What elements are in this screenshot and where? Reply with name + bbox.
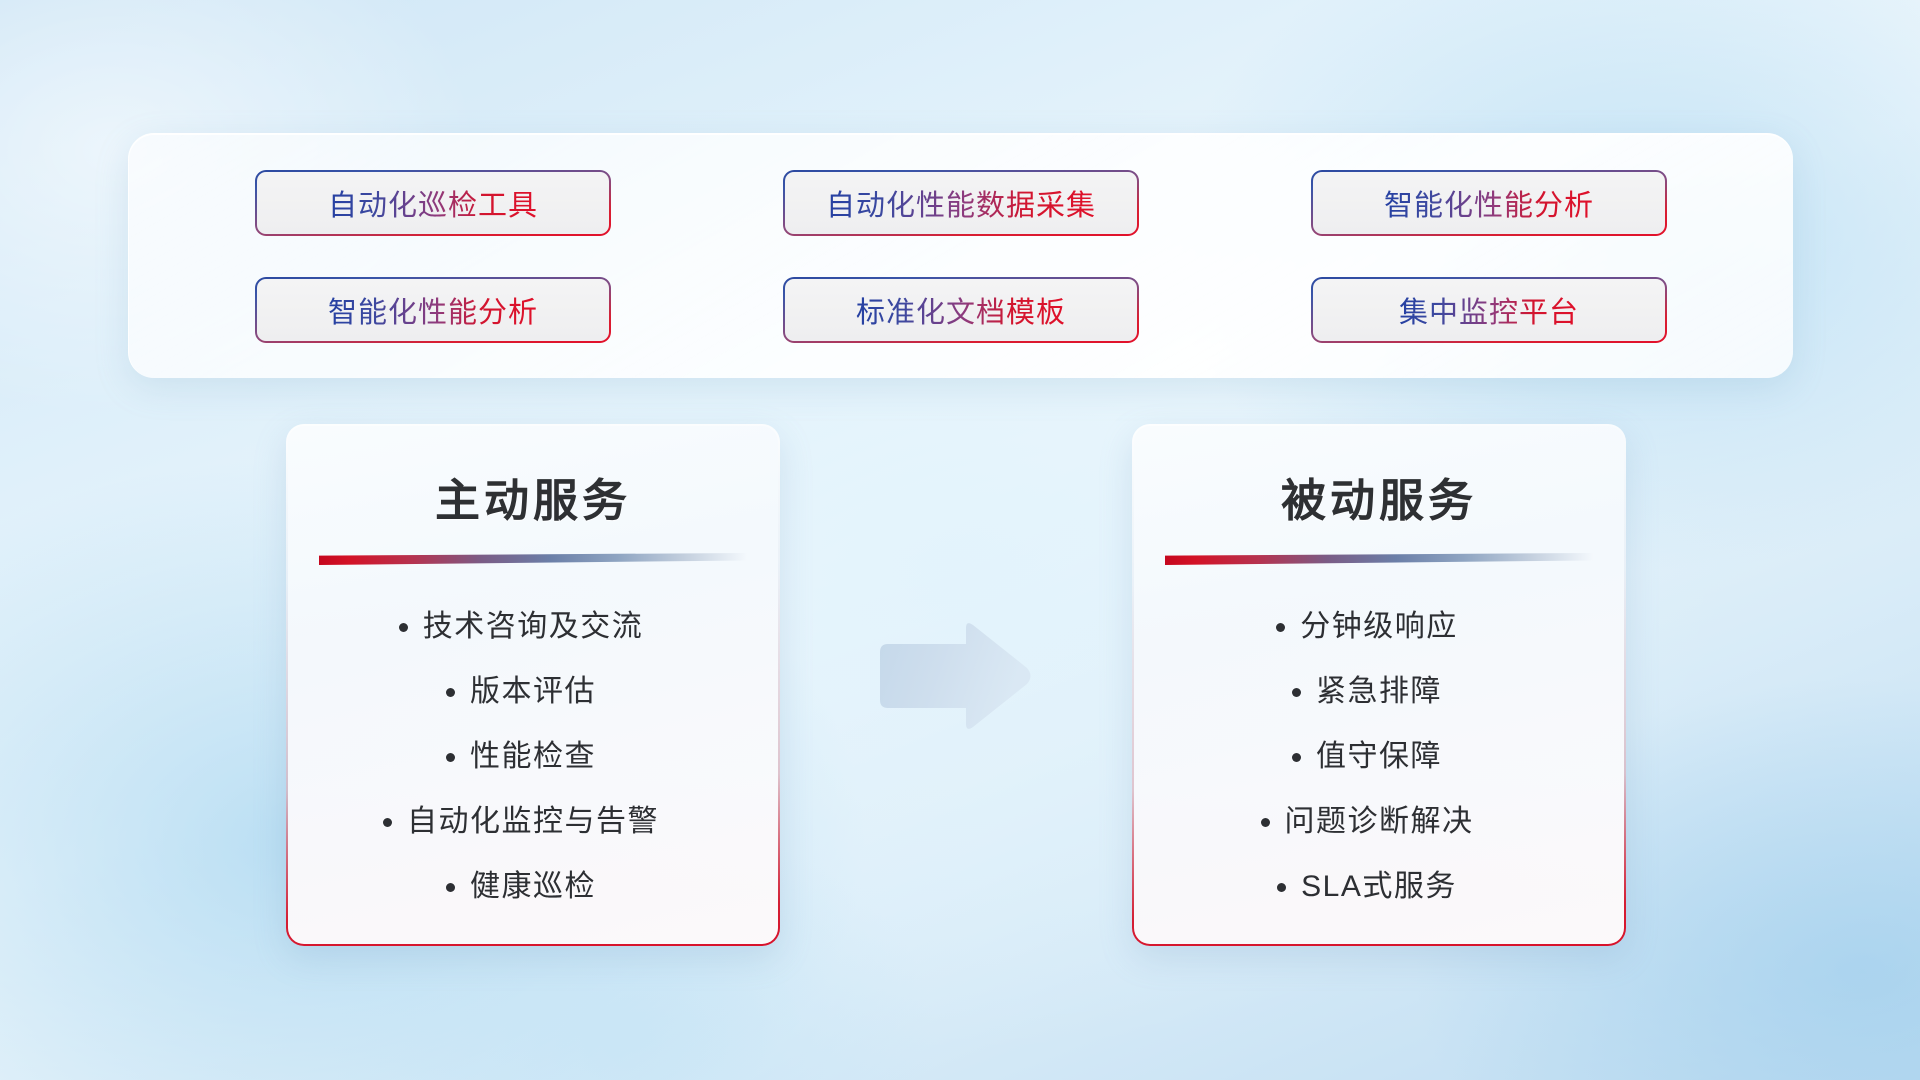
- service-item-list: 技术咨询及交流 版本评估 性能检查 自动化监控与告警 健康巡检: [288, 601, 778, 905]
- service-card-title: 主动服务: [435, 464, 631, 529]
- service-list-item: 问题诊断解决: [1285, 796, 1474, 840]
- service-item-list: 分钟级响应 紧急排障 值守保障 问题诊断解决 SLA式服务: [1134, 601, 1624, 905]
- capability-panel: 自动化巡检工具 自动化性能数据采集 智能化性能分析 智能化性能分析: [128, 133, 1793, 378]
- service-list-item: 版本评估: [470, 666, 596, 710]
- capability-chip-label: 自动化巡检工具: [328, 182, 538, 224]
- capability-chip[interactable]: 标准化文档模板: [783, 277, 1139, 343]
- capability-chip[interactable]: 智能化性能分析: [1311, 170, 1667, 236]
- service-list-item: SLA式服务: [1301, 861, 1457, 905]
- title-divider: [319, 553, 747, 565]
- capability-chip-label: 自动化性能数据采集: [826, 182, 1096, 224]
- capability-chip-label: 智能化性能分析: [1384, 182, 1594, 224]
- capability-chip-grid: 自动化巡检工具 自动化性能数据采集 智能化性能分析 智能化性能分析: [129, 134, 1793, 378]
- service-list-item: 性能检查: [470, 731, 596, 775]
- slide-canvas: 自动化巡检工具 自动化性能数据采集 智能化性能分析 智能化性能分析: [0, 0, 1920, 1080]
- capability-chip-surface: 自动化巡检工具: [257, 172, 609, 234]
- service-card-surface: 被动服务 分钟级响应 紧急排障 值守保障 问题诊断解决 SLA式服务: [1134, 426, 1624, 944]
- service-card-title: 被动服务: [1281, 464, 1477, 529]
- service-card-active[interactable]: 主动服务 技术咨询及交流 版本评估 性能检查 自动化监控与告警 健康巡检: [286, 424, 780, 946]
- service-list-item: 健康巡检: [470, 861, 596, 905]
- capability-chip-label: 智能化性能分析: [328, 289, 538, 331]
- service-list-item: 值守保障: [1316, 731, 1442, 775]
- capability-chip[interactable]: 集中监控平台: [1311, 277, 1667, 343]
- capability-chip-surface: 集中监控平台: [1313, 279, 1665, 341]
- capability-chip-surface: 自动化性能数据采集: [785, 172, 1137, 234]
- arrow-right-icon: [872, 618, 1034, 734]
- capability-chip[interactable]: 自动化性能数据采集: [783, 170, 1139, 236]
- capability-chip-surface: 智能化性能分析: [257, 279, 609, 341]
- service-list-item: 技术咨询及交流: [423, 601, 644, 645]
- capability-chip[interactable]: 智能化性能分析: [255, 277, 611, 343]
- service-card-passive[interactable]: 被动服务 分钟级响应 紧急排障 值守保障 问题诊断解决 SLA式服务: [1132, 424, 1626, 946]
- capability-chip-surface: 标准化文档模板: [785, 279, 1137, 341]
- service-card-surface: 主动服务 技术咨询及交流 版本评估 性能检查 自动化监控与告警 健康巡检: [288, 426, 778, 944]
- capability-chip-surface: 智能化性能分析: [1313, 172, 1665, 234]
- service-list-item: 紧急排障: [1316, 666, 1442, 710]
- title-divider: [1165, 553, 1593, 565]
- capability-chip-label: 标准化文档模板: [856, 289, 1066, 331]
- capability-chip-label: 集中监控平台: [1399, 289, 1579, 331]
- service-list-item: 自动化监控与告警: [407, 796, 659, 840]
- capability-chip[interactable]: 自动化巡检工具: [255, 170, 611, 236]
- service-list-item: 分钟级响应: [1300, 601, 1458, 645]
